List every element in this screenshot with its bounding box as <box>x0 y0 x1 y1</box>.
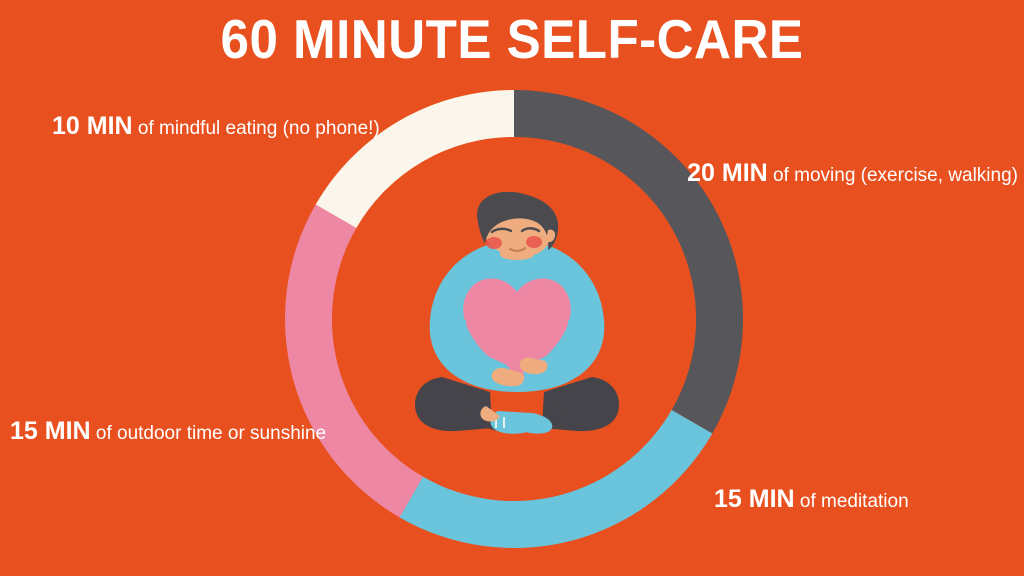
infographic-canvas: 60 MINUTE SELF-CARE 10 MIN of mindful ea… <box>0 0 1024 576</box>
callout-amount: 10 MIN <box>52 112 133 140</box>
callout-outdoor-time: 15 MIN of outdoor time or sunshine <box>10 418 326 446</box>
donut-slice-2 <box>285 205 423 518</box>
person-illustration-svg <box>412 192 622 436</box>
head-group <box>477 192 558 256</box>
callout-meditation: 15 MIN of meditation <box>714 486 909 514</box>
callout-description: of mindful eating (no phone!) <box>133 118 380 139</box>
callout-description: of meditation <box>795 491 909 512</box>
callout-amount: 15 MIN <box>714 485 795 513</box>
callout-description: of outdoor time or sunshine <box>91 423 327 444</box>
illustration-person-hugging-heart <box>412 192 622 436</box>
callout-moving: 20 MIN of moving (exercise, walking) <box>687 160 1018 188</box>
callout-description: of moving (exercise, walking) <box>768 165 1018 186</box>
page-title: 60 MINUTE SELF-CARE <box>36 8 988 71</box>
callout-mindful-eating: 10 MIN of mindful eating (no phone!) <box>52 113 380 141</box>
callout-amount: 15 MIN <box>10 417 91 445</box>
callout-amount: 20 MIN <box>687 159 768 187</box>
